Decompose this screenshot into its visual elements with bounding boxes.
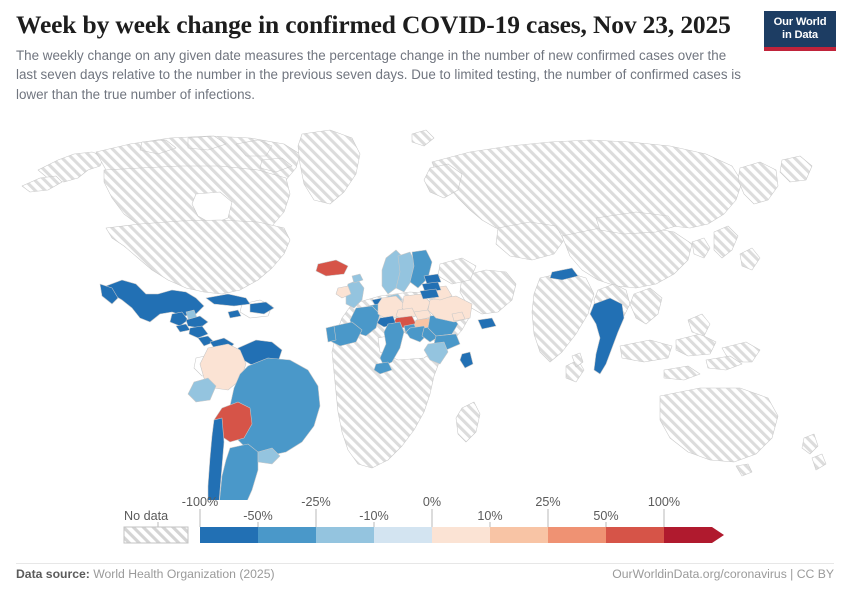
logo-line-1: Our World bbox=[774, 16, 827, 29]
legend-bin-7 bbox=[606, 527, 664, 543]
legend-color-bins[interactable] bbox=[200, 527, 724, 543]
legend-bin-6 bbox=[548, 527, 606, 543]
legend-tick-upper-0: -100% bbox=[182, 495, 218, 509]
owid-map-chart: Week by week change in confirmed COVID-1… bbox=[0, 0, 850, 600]
legend-tick-labels-upper: -100% -25% 0% 25% 100% bbox=[182, 495, 680, 509]
legend-tick-upper-4: 100% bbox=[648, 495, 680, 509]
world-map[interactable] bbox=[0, 108, 850, 500]
data-source-label: Data source: bbox=[16, 567, 90, 581]
owid-logo[interactable]: Our World in Data bbox=[764, 11, 836, 51]
legend-tick-lower-0: -50% bbox=[243, 509, 272, 523]
legend-bin-3 bbox=[374, 527, 432, 543]
legend-bin-4 bbox=[432, 527, 490, 543]
legend-bin-2 bbox=[316, 527, 374, 543]
legend-tick-upper-3: 25% bbox=[535, 495, 560, 509]
chart-subtitle: The weekly change on any given date meas… bbox=[16, 46, 744, 105]
attribution-link[interactable]: OurWorldinData.org/coronavirus | CC BY bbox=[612, 567, 834, 581]
legend-bin-8-arrow bbox=[664, 527, 724, 543]
legend-tick-upper-1: -25% bbox=[301, 495, 330, 509]
legend-no-data-swatch[interactable] bbox=[124, 527, 188, 543]
map-legend: No data bbox=[0, 495, 850, 557]
footer-divider bbox=[16, 563, 834, 564]
data-source-value: World Health Organization (2025) bbox=[93, 567, 274, 581]
legend-tick-lower-3: 50% bbox=[593, 509, 618, 523]
legend-no-data-label: No data bbox=[124, 509, 168, 523]
chart-footer: Data source: World Health Organization (… bbox=[0, 563, 850, 593]
chart-header: Week by week change in confirmed COVID-1… bbox=[16, 10, 756, 104]
logo-line-2: in Data bbox=[782, 29, 818, 42]
legend-bin-1 bbox=[258, 527, 316, 543]
page-title: Week by week change in confirmed COVID-1… bbox=[16, 10, 756, 40]
data-source: Data source: World Health Organization (… bbox=[16, 567, 275, 581]
legend-tick-labels-lower: -50% -10% 10% 50% bbox=[243, 509, 618, 523]
legend-bin-0 bbox=[200, 527, 258, 543]
legend-tick-lower-2: 10% bbox=[477, 509, 502, 523]
legend-tick-lower-1: -10% bbox=[359, 509, 388, 523]
legend-bin-5 bbox=[490, 527, 548, 543]
legend-tick-upper-2: 0% bbox=[423, 495, 441, 509]
